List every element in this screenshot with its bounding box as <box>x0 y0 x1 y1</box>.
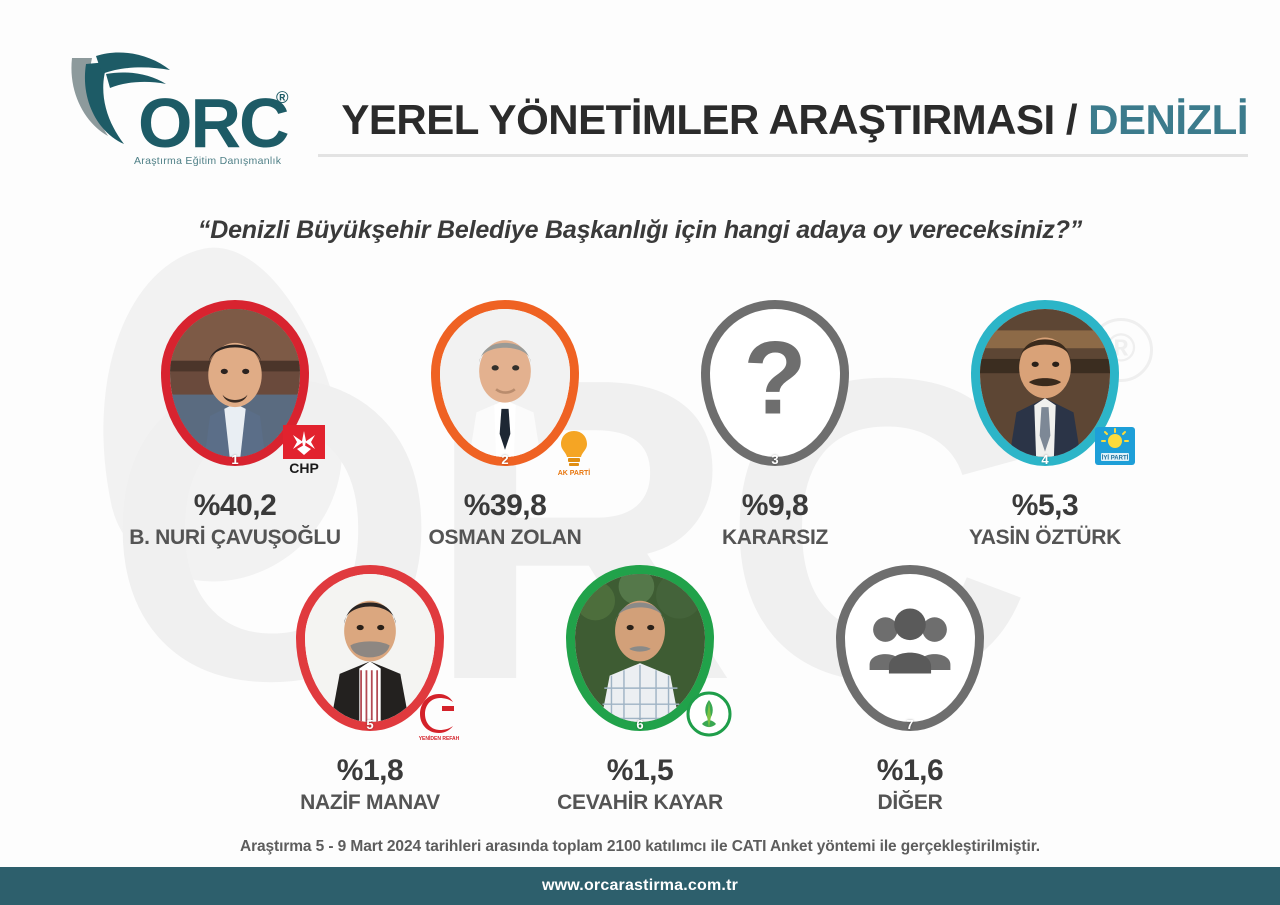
svg-text:CHP: CHP <box>289 460 319 476</box>
poll-infographic: ORC ® ORC ® Araştırma Eğitim Danışmanlık… <box>0 0 1280 905</box>
candidate-pin-7: 7 <box>836 565 984 740</box>
candidate-row-2: 5 YENİDEN REFAH %1,8 NAZİF MANAV <box>0 565 1280 815</box>
candidate-name-3: KARARSIZ <box>722 526 828 550</box>
candidate-name-4: YASİN ÖZTÜRK <box>969 526 1121 550</box>
website-bar[interactable]: www.orcarastirma.com.tr <box>0 867 1280 905</box>
candidate-card-5[interactable]: 5 YENİDEN REFAH %1,8 NAZİF MANAV <box>235 565 505 815</box>
candidate-rank-badge-7: 7 <box>906 717 913 732</box>
iyi-parti-logo-icon: İYİ PARTİ <box>1087 425 1141 477</box>
svg-text:?: ? <box>743 320 806 436</box>
candidate-card-4[interactable]: 4 İYİ PARTİ %5,3 YASİN ÖZTÜRK <box>910 300 1180 550</box>
ak-parti-logo-icon: AK PARTİ <box>547 425 601 477</box>
candidate-rank-badge-3: 3 <box>771 452 778 467</box>
page-title: YEREL YÖNETİMLER ARAŞTIRMASI / DENİZLİ <box>318 96 1248 144</box>
candidate-name-7: DİĞER <box>877 791 942 815</box>
candidate-percentage-7: %1,6 <box>877 754 943 788</box>
poll-question: “Denizli Büyükşehir Belediye Başkanlığı … <box>0 216 1280 245</box>
candidate-percentage-6: %1,5 <box>607 754 673 788</box>
page-title-accent: DENİZLİ <box>1088 96 1248 143</box>
header: ORC ® Araştırma Eğitim Danışmanlık YEREL… <box>0 0 1280 190</box>
candidate-card-3[interactable]: ? 3 %9,8 KARARSIZ <box>640 300 910 550</box>
page-title-main: YEREL YÖNETİMLER ARAŞTIRMASI / <box>341 96 1088 143</box>
candidate-percentage-1: %40,2 <box>194 489 277 523</box>
dem-parti-logo-icon <box>682 690 736 742</box>
website-url[interactable]: www.orcarastirma.com.tr <box>542 877 738 895</box>
svg-text:İYİ PARTİ: İYİ PARTİ <box>1102 455 1129 462</box>
candidate-rank-badge-1: 1 <box>231 452 238 467</box>
orc-logo-wordmark: ORC <box>138 88 288 158</box>
candidate-name-2: OSMAN ZOLAN <box>428 526 581 550</box>
candidate-rank-badge-2: 2 <box>501 452 508 467</box>
question-mark-icon: ? <box>710 309 840 457</box>
candidate-pin-6: 6 <box>566 565 714 740</box>
title-block: YEREL YÖNETİMLER ARAŞTIRMASI / DENİZLİ <box>318 96 1248 157</box>
candidate-photo-ring-3: ? <box>701 300 849 466</box>
chp-logo-icon: CHP <box>277 425 331 477</box>
candidate-card-7[interactable]: 7 %1,6 DİĞER <box>775 565 1045 815</box>
candidate-rank-badge-6: 6 <box>636 717 643 732</box>
svg-text:YENİDEN REFAH: YENİDEN REFAH <box>419 735 460 742</box>
candidate-row-1: 1 CHP %40,2 B. NURİ ÇAVUŞOĞLU <box>0 300 1280 550</box>
candidate-percentage-2: %39,8 <box>464 489 547 523</box>
candidate-card-2[interactable]: 2 AK PARTİ %39,8 OSMAN ZOLAN <box>370 300 640 550</box>
candidate-card-1[interactable]: 1 CHP %40,2 B. NURİ ÇAVUŞOĞLU <box>100 300 370 550</box>
candidate-name-6: CEVAHİR KAYAR <box>557 791 723 815</box>
orc-logo-registered-icon: ® <box>276 88 289 108</box>
candidate-rank-badge-4: 4 <box>1041 452 1048 467</box>
candidate-percentage-4: %5,3 <box>1012 489 1078 523</box>
people-group-icon <box>845 574 975 722</box>
candidate-percentage-3: %9,8 <box>742 489 808 523</box>
candidate-photo-ring-7 <box>836 565 984 731</box>
methodology-note: Araştırma 5 - 9 Mart 2024 tarihleri aras… <box>0 838 1280 856</box>
orc-logo-tagline: Araştırma Eğitim Danışmanlık <box>134 155 281 167</box>
candidate-percentage-5: %1,8 <box>337 754 403 788</box>
candidate-card-6[interactable]: 6 %1,5 CEVAHİR KAYAR <box>505 565 775 815</box>
candidate-pin-1: 1 CHP <box>161 300 309 475</box>
candidate-rank-badge-5: 5 <box>366 717 373 732</box>
candidate-pin-5: 5 YENİDEN REFAH <box>296 565 444 740</box>
candidate-name-1: B. NURİ ÇAVUŞOĞLU <box>129 526 341 550</box>
orc-logo: ORC ® Araştırma Eğitim Danışmanlık <box>62 40 312 170</box>
title-divider <box>318 154 1248 157</box>
candidate-name-5: NAZİF MANAV <box>300 791 440 815</box>
candidate-pin-3: ? 3 <box>701 300 849 475</box>
candidate-pin-4: 4 İYİ PARTİ <box>971 300 1119 475</box>
yeniden-refah-logo-icon: YENİDEN REFAH <box>412 690 466 742</box>
candidate-pin-2: 2 AK PARTİ <box>431 300 579 475</box>
svg-text:AK PARTİ: AK PARTİ <box>558 469 591 477</box>
